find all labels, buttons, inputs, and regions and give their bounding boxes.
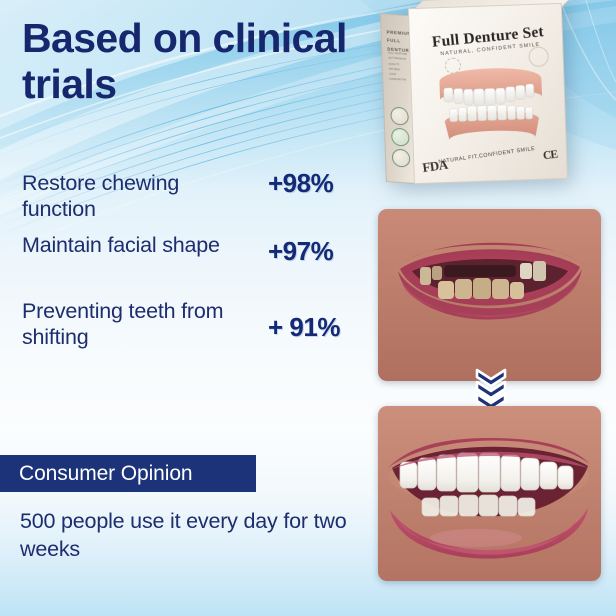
package-spine-body-text: FULL DENTURE SET PREMIUM QUALITY NATURAL… [388,51,408,84]
benefit-row: Maintain facial shape +97% [22,230,370,296]
benefit-row: Preventing teeth from shifting + 91% [22,296,370,358]
product-package-image: PREMIUM FULL DENTURE FULL DENTURE SET PR… [380,3,568,191]
ce-mark-icon: CE [542,149,557,163]
benefit-row: Restore chewing function +98% [22,168,370,230]
certification-seal-icon [390,107,409,126]
double-chevron-down-icon [473,368,509,410]
package-bottom-tagline: NATURAL FIT,CONFIDENT SMILE [438,146,535,166]
denture-illustration [429,56,554,148]
after-photo [378,406,601,581]
consumer-opinion-statement: 500 people use it every day for two week… [20,507,370,564]
benefits-list: Restore chewing function +98% Maintain f… [22,168,370,358]
consumer-opinion-banner: Consumer Opinion [0,455,256,492]
benefit-label: Maintain facial shape [22,232,254,258]
certification-seal-icon [391,127,410,146]
certification-seal-icon [392,148,411,167]
before-photo [378,209,601,381]
promo-poster: Based on clinical trials PREMIUM FULL DE… [0,0,616,616]
benefit-value: + 91% [268,312,340,343]
benefit-label: Restore chewing function [22,170,254,222]
page-title: Based on clinical trials [22,16,392,108]
package-front-face: Full Denture Set NATURAL, CONFIDENT SMIL… [408,3,568,184]
benefit-value: +97% [268,236,333,267]
benefit-value: +98% [268,168,333,199]
benefit-label: Preventing teeth from shifting [22,298,254,350]
consumer-opinion-label: Consumer Opinion [19,462,193,486]
